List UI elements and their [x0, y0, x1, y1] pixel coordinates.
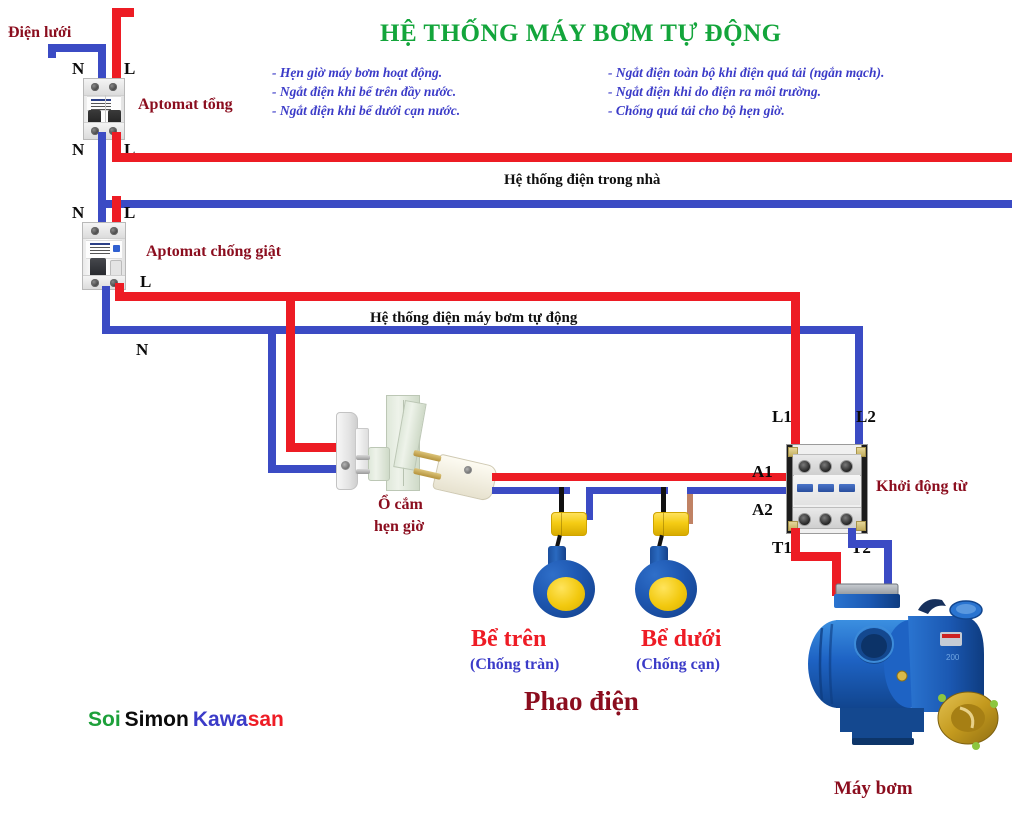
contactor-body-front	[794, 475, 860, 505]
terminal-n-mid: N	[72, 140, 84, 160]
contactor-terminal-l3[interactable]	[840, 460, 853, 473]
pump-illustration: 200	[800, 580, 1000, 765]
watermark-part-3: Kawa	[193, 708, 248, 731]
contactor-marker-3	[839, 484, 855, 492]
rcbo-test-indicator	[113, 245, 120, 252]
watermark: Soi Simon Kawasan	[88, 708, 284, 732]
contactor-label: Khởi động từ	[876, 478, 967, 496]
wire-house-neutral-drop	[98, 132, 106, 208]
breaker-top-block	[84, 79, 124, 96]
wire-contactor-l2	[855, 326, 863, 448]
wire-mains-live-vertical	[112, 8, 121, 86]
terminal-l2-label: L2	[856, 407, 876, 427]
float-group-label: Phao điện	[524, 686, 639, 717]
feature-right-3: - Chống quá tải cho bộ hẹn giờ.	[608, 101, 884, 120]
rcbo-printed-markings	[90, 243, 110, 257]
wire-socket-neutral-horizontal	[268, 465, 342, 473]
wire-coil-neutral-to-a2	[687, 487, 790, 494]
breaker-pole-divider	[105, 95, 106, 124]
lower-tank-sublabel: (Chống cạn)	[636, 656, 720, 674]
wire-house-live-bus	[112, 153, 1012, 162]
wire-contactor-l1	[791, 292, 800, 447]
timer-plug-shell	[368, 447, 390, 481]
terminal-l-rcbo-out: L	[140, 272, 151, 292]
float-clamp-lower	[653, 512, 689, 536]
rcbo-top-block	[83, 223, 125, 239]
contactor-terminal-l1[interactable]	[798, 460, 811, 473]
page-title: HỆ THỐNG MÁY BƠM TỰ ĐỘNG	[380, 20, 782, 48]
terminal-n-pump-bus: N	[136, 340, 148, 360]
terminal-n-top: N	[72, 59, 84, 79]
timer-socket-label-line1: Ổ cắm	[378, 496, 423, 514]
wire-coil-live-to-a1	[492, 473, 790, 481]
contactor-marker-2	[818, 484, 834, 492]
terminal-l-top: L	[124, 59, 135, 79]
float-ball-core-upper	[547, 577, 585, 611]
float-clamp-upper	[551, 512, 587, 536]
output-plug-screw-icon	[464, 466, 472, 474]
house-circuit-label: Hệ thống điện trong nhà	[504, 172, 660, 189]
watermark-part-4: san	[248, 708, 284, 731]
float-ball-core-lower	[649, 577, 687, 611]
mains-label: Điện lưới	[8, 24, 71, 42]
terminal-a2-label: A2	[752, 500, 773, 520]
float-switch-lower[interactable]	[635, 508, 715, 618]
pump-circuit-label: Hệ thống điện máy bơm tự động	[370, 310, 577, 327]
float-ball-lower	[635, 560, 697, 618]
upper-tank-label: Bể trên	[471, 626, 546, 653]
contactor-terminal-t1[interactable]	[798, 513, 811, 526]
feature-left-2: - Ngắt điện khi bể trên đầy nước.	[272, 82, 460, 101]
timer-plug-pin-2	[356, 469, 370, 474]
wire-socket-live-vertical	[286, 292, 295, 452]
feature-left-1: - Hẹn giờ máy bơm hoạt động.	[272, 63, 460, 82]
contactor-marker-1	[797, 484, 813, 492]
wire-pump-neutral-bus	[102, 326, 862, 334]
upper-tank-sublabel: (Chống tràn)	[470, 656, 559, 674]
screw-icon	[91, 83, 99, 91]
socket-screw-icon	[341, 461, 350, 470]
contactor-lug-br	[856, 521, 866, 531]
watermark-part-1: Soi	[88, 708, 121, 731]
timer-plug-pin-1	[356, 455, 370, 460]
wire-mains-live-top	[112, 8, 134, 17]
rcbo-label: Aptomat chống giật	[146, 243, 281, 261]
wiring-diagram-canvas: HỆ THỐNG MÁY BƠM TỰ ĐỘNG - Hẹn giờ máy b…	[0, 0, 1012, 820]
wire-socket-neutral-vertical	[268, 326, 276, 473]
features-right: - Ngắt điện toàn bộ khi điện quá tải (ng…	[608, 63, 884, 120]
contactor-terminal-t3[interactable]	[840, 513, 853, 526]
terminal-a1-label: A1	[752, 462, 773, 482]
screw-icon	[110, 227, 118, 235]
screw-icon	[109, 83, 117, 91]
timer-socket-label-line2: hẹn giờ	[374, 518, 424, 536]
breaker-label-face	[87, 96, 121, 111]
screw-icon	[91, 227, 99, 235]
contactor-device[interactable]	[786, 444, 868, 534]
contactor-bottom-terminals	[793, 507, 862, 529]
float-switch-upper[interactable]	[533, 508, 613, 618]
svg-text:200: 200	[946, 653, 960, 662]
terminal-l1-label: L1	[772, 407, 792, 427]
wire-socket-live-horizontal	[286, 443, 342, 452]
contactor-top-terminals	[793, 454, 862, 476]
feature-right-1: - Ngắt điện toàn bộ khi điện quá tải (ng…	[608, 63, 884, 82]
terminal-t1-label: T1	[772, 538, 792, 558]
main-breaker-label: Aptomat tổng	[138, 96, 233, 114]
float-ball-upper	[533, 560, 595, 618]
screw-icon	[91, 279, 99, 287]
main-breaker-device[interactable]	[83, 78, 125, 140]
output-plug-body[interactable]	[432, 453, 499, 502]
lower-tank-label: Bể dưới	[641, 626, 721, 653]
pump-label: Máy bơm	[834, 778, 913, 800]
water-pump-device[interactable]: 200	[800, 580, 1000, 765]
terminal-n-rcbo-in: N	[72, 203, 84, 223]
wall-socket-body	[355, 428, 369, 474]
wire-pump-live-bus	[115, 292, 791, 301]
contactor-terminal-l2[interactable]	[819, 460, 832, 473]
wire-float-neutral-segment-2	[586, 487, 668, 494]
watermark-part-2: Simon	[125, 708, 189, 731]
wire-mains-neutral-stub	[48, 44, 56, 58]
terminal-l-rcbo-in: L	[124, 203, 135, 223]
rcbo-label-face	[86, 240, 122, 259]
contactor-terminal-t2[interactable]	[819, 513, 832, 526]
rcbo-device[interactable]	[82, 222, 126, 290]
wire-house-neutral-bus	[98, 200, 1012, 208]
feature-right-2: - Ngắt điện khi do điện ra môi trường.	[608, 82, 884, 101]
feature-left-3: - Ngắt điện khi bể dưới cạn nước.	[272, 101, 460, 120]
features-left: - Hẹn giờ máy bơm hoạt động. - Ngắt điện…	[272, 63, 460, 120]
